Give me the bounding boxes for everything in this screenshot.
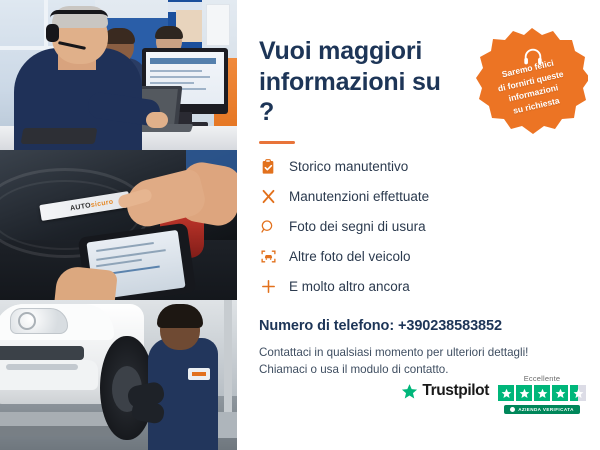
trustpilot-widget[interactable]: Trustpilot Eccellente AZIENDA VERIFICATA (401, 374, 586, 414)
star-5-half (570, 385, 586, 401)
magnifier-icon (259, 218, 277, 236)
trustpilot-star-icon (401, 383, 418, 400)
verified-badge: AZIENDA VERIFICATA (504, 405, 580, 414)
scan-car-icon (259, 248, 277, 266)
garage-photo: Meccanico che ispeziona la ruota di un'a… (0, 300, 237, 450)
feature-item-altre-foto: Altre foto del veicolo (259, 248, 578, 266)
feature-label: Foto dei segni di usura (289, 219, 426, 234)
callout-badge: Saremo felici di fornirti queste informa… (476, 26, 588, 138)
feature-list: Storico manutentivo Manutenzioni effettu… (259, 158, 578, 296)
trustpilot-logo: Trustpilot (401, 374, 489, 400)
inspection-photo: AUTOsicuro Tecnico che misura la carrozz… (0, 150, 237, 300)
promo-banner: Operatore con cuffie al computer in un c… (0, 0, 600, 450)
rating-stars (498, 385, 586, 401)
feature-label: Altre foto del veicolo (289, 249, 411, 264)
trustpilot-wordmark: Trustpilot (422, 382, 489, 400)
headline-line-1: Vuoi maggiori (259, 37, 422, 65)
star-2 (516, 385, 532, 401)
feature-label: Storico manutentivo (289, 159, 408, 174)
star-1 (498, 385, 514, 401)
contact-text: Contattaci in qualsiasi momento per ulte… (259, 344, 578, 378)
feature-label: E molto altro ancora (289, 279, 410, 294)
trustpilot-rating: Eccellente AZIENDA VERIFICATA (498, 374, 586, 414)
feature-item-manutenzioni: Manutenzioni effettuate (259, 188, 578, 206)
star-4 (552, 385, 568, 401)
check-icon (510, 407, 515, 412)
photo-column: Operatore con cuffie al computer in un c… (0, 0, 237, 450)
phone-number[interactable]: +390238583852 (398, 318, 502, 334)
clipboard-check-icon (259, 158, 277, 176)
content-panel: Vuoi maggiori informazioni su ? Saremo f… (237, 0, 600, 450)
phone-label: Numero di telefono: (259, 318, 394, 334)
feature-item-foto-usura: Foto dei segni di usura (259, 218, 578, 236)
tools-cross-icon (259, 188, 277, 206)
contact-line-1: Contattaci in qualsiasi momento per ulte… (259, 346, 528, 359)
headline-line-2: informazioni su ? (259, 68, 441, 127)
plus-icon (259, 278, 277, 296)
feature-item-storico: Storico manutentivo (259, 158, 578, 176)
call-center-photo: Operatore con cuffie al computer in un c… (0, 0, 237, 150)
verified-label: AZIENDA VERIFICATA (518, 407, 574, 412)
rating-label: Eccellente (524, 374, 561, 383)
page-title: Vuoi maggiori informazioni su ? (259, 36, 459, 128)
feature-label: Manutenzioni effettuate (289, 189, 429, 204)
feature-item-altro: E molto altro ancora (259, 278, 578, 296)
title-divider (259, 141, 295, 144)
phone-line: Numero di telefono: +390238583852 (259, 318, 578, 334)
star-3 (534, 385, 550, 401)
